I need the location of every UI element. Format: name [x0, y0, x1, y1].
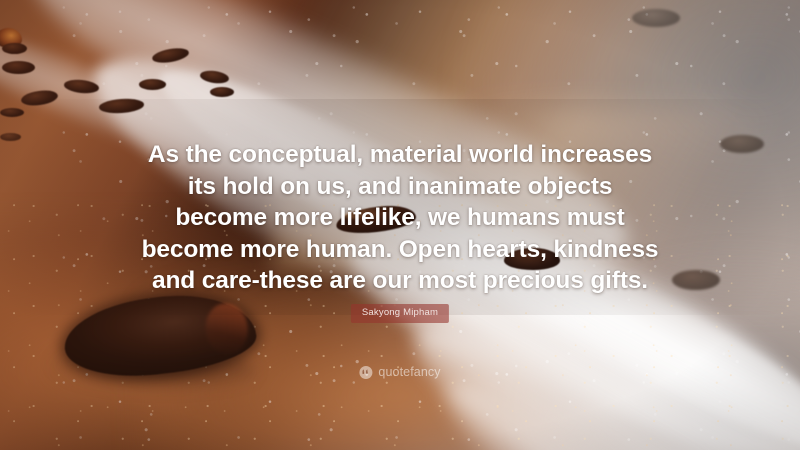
small-rock-right: [504, 248, 560, 271]
beach-sunset-photo: [0, 0, 800, 450]
pebble: [210, 87, 234, 97]
pebble: [0, 133, 21, 141]
submerged-rock-right: [720, 135, 764, 153]
quote-image-canvas: As the conceptual, material world increa…: [0, 0, 800, 450]
submerged-rock-top-right: [632, 9, 680, 27]
pebble: [0, 108, 24, 117]
